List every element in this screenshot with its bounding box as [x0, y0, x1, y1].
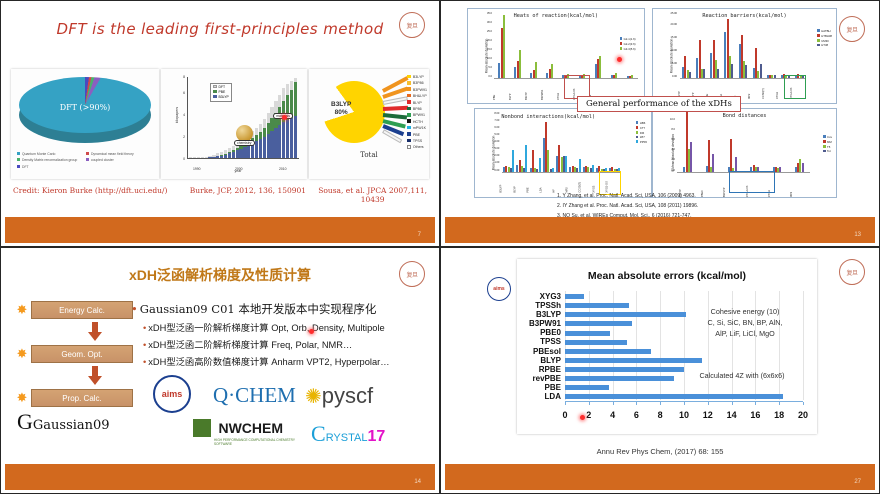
chart-bar[interactable]	[565, 294, 584, 299]
footer-bar	[5, 217, 435, 243]
panel-nonbond-interactions: Nonbond interactions(kcal/mol) Mean abso…	[474, 108, 652, 198]
figure-b3lyp-usage-pie: B3LYP 80% Total B3	[309, 69, 429, 179]
chart-container: Mean absolute errors (kcal/mol) XYG3TPSS…	[517, 259, 817, 434]
chart-bar[interactable]	[565, 385, 609, 390]
chart-bar[interactable]	[565, 340, 627, 345]
chart-x-tick	[636, 402, 637, 405]
chart-bar[interactable]	[565, 312, 686, 317]
credits-row: Credit: Kieron Burke (http://dft.uci.edu…	[5, 186, 435, 204]
flow-arrow-2	[13, 365, 133, 387]
logo-nwchem[interactable]: NWCHEM HIGH PERFORMANCE COMPUTATIONAL CH…	[193, 419, 306, 446]
logo-crystal17[interactable]: CRYSTAL17	[311, 421, 385, 447]
chart-bar[interactable]	[565, 321, 632, 326]
figure-dft-share-pie: DFT (>90%) Quantum Monte Carlo Dynamical…	[11, 69, 159, 179]
slide-number: 13	[854, 232, 861, 238]
cursor-highlight-dot	[282, 115, 287, 120]
chart-bar[interactable]	[565, 303, 629, 308]
chart-bar-row: PBE	[565, 382, 803, 391]
footer-bar	[5, 464, 435, 490]
chart-x-tick	[613, 402, 614, 405]
flow-step-label: Energy Calc.	[31, 301, 133, 319]
chart-bar[interactable]	[565, 349, 651, 354]
logo-qchem[interactable]: Q·CHEM	[213, 383, 296, 408]
bullet-sub: •xDH型泛函二阶解析梯度计算 Freq, Polar, NMR…	[131, 337, 429, 351]
chart-x-ticklabel: 8	[658, 410, 663, 420]
papers-legend: DFT PBE B3LYP	[210, 83, 232, 102]
slide-xdh-performance[interactable]: 复旦 Heats of reaction(kcal/mol) Mean abso…	[440, 0, 880, 247]
chart-source: Annu Rev Phys Chem, (2017) 68: 155	[445, 447, 875, 456]
flow-step-prop[interactable]: ✸ Prop. Calc.	[13, 387, 133, 409]
highlight-box-blue	[729, 171, 775, 193]
chart-bar-row: PBEsol	[565, 346, 803, 355]
chart-x-ticklabel: 18	[774, 410, 784, 420]
chart-x-ticklabel: 0	[562, 410, 567, 420]
chart-category-label: LDA	[545, 391, 561, 403]
chart-x-ticklabel: 4	[610, 410, 615, 420]
flow-step-label: Prop. Calc.	[31, 389, 133, 407]
b3lyp-legend: B3LYP B3P86 B3PW91 BH&LYP BLYP BP86 BPW9…	[407, 74, 427, 151]
pie-legend: Quantum Monte Carlo Dynamical mean field…	[17, 151, 157, 170]
panel-yticks: 0.0 5.0 10.0 15.0 20.0 25.0 30.0 35.0	[478, 15, 492, 77]
cursor-highlight-dot	[617, 57, 622, 62]
panel-grid: Heats of reaction(kcal/mol) Mean absolut…	[467, 8, 837, 197]
university-seal-icon: 复旦	[839, 259, 865, 285]
panel-legend: HATBH HTBH38 UM30 HT38	[817, 29, 832, 48]
page-title: xDH泛函解析梯度及性质计算	[5, 265, 435, 285]
chart-bar[interactable]	[565, 376, 674, 381]
reference-item: 1. Y Zhang, et al. Proc. Natl. Acad. Sci…	[557, 192, 703, 202]
bullet-sub: •xDH型泛函高阶数值梯度计算 Anharm VPT2, Hyperpolar…	[131, 354, 429, 368]
chart-x-ticklabel: 16	[750, 410, 760, 420]
chart-annotation-basis: Calculated 4Z with (6x6x6)	[673, 371, 811, 382]
papers-xlabel: year	[173, 169, 303, 173]
chart-x-tick	[732, 402, 733, 405]
chart-x-tick	[708, 402, 709, 405]
chart-x-ticklabel: 20	[798, 410, 808, 420]
slide-number: 7	[418, 232, 421, 238]
logo-aims[interactable]: aims	[153, 375, 191, 413]
sun-icon: ✸	[13, 346, 31, 362]
flow-step-label: Geom. Opt.	[31, 345, 133, 363]
chart-x-tick	[565, 402, 566, 405]
credit-2: Burke, JCP, 2012, 136, 150901	[186, 186, 311, 204]
chart-bar[interactable]	[565, 331, 610, 336]
panel-bars	[677, 113, 810, 173]
reference-item: 2. IY Zhang et al. Proc. Natl. Acad. Sci…	[557, 202, 703, 212]
panel-heats-of-reaction: Heats of reaction(kcal/mol) Mean absolut…	[467, 8, 645, 104]
university-seal-icon: 复旦	[839, 16, 865, 42]
chart-bar-row: LDA	[565, 391, 803, 400]
bullet-sub: •xDH型泛函一阶解析梯度计算 Opt, Orb, Density, Multi…	[131, 320, 429, 334]
panel-legend: Cov MM T5 Tot	[823, 135, 832, 154]
slide-number: 27	[854, 479, 861, 485]
chart-x-ticklabel: 2	[586, 410, 591, 420]
pie-chart-3d: DFT (>90%)	[19, 77, 151, 143]
panel-yticks: 0.0 2.0 4.0 6.0 8.0 10.0 12.0	[661, 113, 675, 171]
chart-bar-row: BLYP	[565, 355, 803, 364]
chart-x-ticklabels: 02468101214161820	[565, 410, 803, 424]
general-performance-banner: General performance of the xDHs	[577, 96, 741, 112]
panel-yticks: 0.00 5.00 10.00 15.00 20.00 25.00	[661, 15, 677, 77]
chart-title: Mean absolute errors (kcal/mol)	[517, 270, 817, 282]
panel-bars	[680, 15, 806, 79]
chart-bar[interactable]	[565, 394, 783, 399]
pie-b3lyp-label: B3LYP 80%	[331, 101, 351, 117]
annotation-chemistry: chemistry	[234, 140, 255, 146]
panel-bars	[494, 15, 638, 79]
chart-bar[interactable]	[565, 367, 684, 372]
chart-x-tick	[755, 402, 756, 405]
chart-bar[interactable]	[565, 358, 702, 363]
chart-x-axis	[565, 401, 803, 408]
flow-step-energy[interactable]: ✸ Energy Calc.	[13, 299, 133, 321]
chart-x-tick	[684, 402, 685, 405]
cursor-highlight-dot	[309, 329, 314, 334]
chart-x-tick	[660, 402, 661, 405]
papers-yticks: 0 2 4 6 8	[175, 77, 186, 159]
slide-xdh-gradient[interactable]: 复旦 xDH泛函解析梯度及性质计算 ✸ Energy Calc. ✸ Geom.…	[0, 247, 440, 494]
pie-center-label: DFT (>90%)	[19, 103, 151, 112]
panel-reaction-barriers: Reaction barriers(kcal/mol) Mean absolut…	[652, 8, 837, 104]
workflow-diagram: ✸ Energy Calc. ✸ Geom. Opt. ✸ Prop. Calc…	[13, 299, 133, 409]
credit-3: Sousa, et al. JPCA 2007,111, 10439	[310, 186, 435, 204]
papers-axes: materials chemistry DFT PBE B3LYP	[187, 77, 299, 159]
chart-x-tick	[589, 402, 590, 405]
chart-x-ticklabel: 6	[634, 410, 639, 420]
panel-yticks: 0.00 1.00 2.00 3.00 4.00 5.00 6.00 7.00 …	[483, 113, 499, 171]
figure-papers-per-year: kilopapers 0 2 4 6 8	[161, 69, 307, 179]
footer-bar	[445, 464, 875, 490]
chart-x-ticklabel: 14	[727, 410, 737, 420]
credit-1: Credit: Kieron Burke (http://dft.uci.edu…	[5, 186, 186, 204]
sun-icon: ✸	[13, 390, 31, 406]
chart-x-tick	[803, 402, 804, 405]
chart-annotation-cohesive: Cohesive energy (10) C, Si, SiC, BN, BP,…	[682, 307, 808, 339]
logo-aims[interactable]: aims	[487, 277, 511, 301]
panel-bond-distances: Bond distances S-Mean absolute deviation…	[652, 108, 837, 198]
footer-bar	[445, 217, 875, 243]
flow-arrow-1	[13, 321, 133, 343]
bullet-main: •Gaussian09 C01 本地开发版本中实现程序化	[131, 301, 429, 317]
chart-bar-row: XYG3	[565, 291, 803, 300]
page-title: DFT is the leading first-principles meth…	[5, 20, 435, 38]
slide-mean-absolute-errors[interactable]: 复旦 aims Mean absolute errors (kcal/mol) …	[440, 247, 880, 494]
slide-dft-leading[interactable]: 复旦 DFT is the leading first-principles m…	[0, 0, 440, 247]
panel-bars	[502, 113, 621, 173]
panel-legend: HB6 CT7 DI6 WI7 PPS5	[636, 121, 647, 145]
cursor-highlight-dot	[580, 415, 585, 420]
bullet-list: •Gaussian09 C01 本地开发版本中实现程序化 •xDH型泛函一阶解析…	[131, 301, 429, 368]
chart-x-tick	[779, 402, 780, 405]
slide-grid: 复旦 DFT is the leading first-principles m…	[0, 0, 880, 494]
software-logos: aims Q·CHEM ✺pyscf NWCHEM HIGH PERFORMAN…	[135, 373, 425, 453]
flow-step-geom[interactable]: ✸ Geom. Opt.	[13, 343, 133, 365]
chart-x-ticklabel: 12	[703, 410, 713, 420]
figure-row: DFT (>90%) Quantum Monte Carlo Dynamical…	[11, 69, 429, 179]
panel-legend: G2-1(1.6) G2-2(3.6) G3-3(5.6)	[620, 37, 636, 51]
pie-total-label: Total	[309, 151, 429, 159]
logo-gaussian09[interactable]: GGaussian09	[17, 409, 110, 435]
sun-icon: ✸	[13, 302, 31, 318]
chart-x-ticklabel: 10	[679, 410, 689, 420]
logo-pyscf[interactable]: ✺pyscf	[305, 383, 373, 409]
slide-number: 14	[414, 479, 421, 485]
highlight-box-green	[784, 75, 806, 99]
